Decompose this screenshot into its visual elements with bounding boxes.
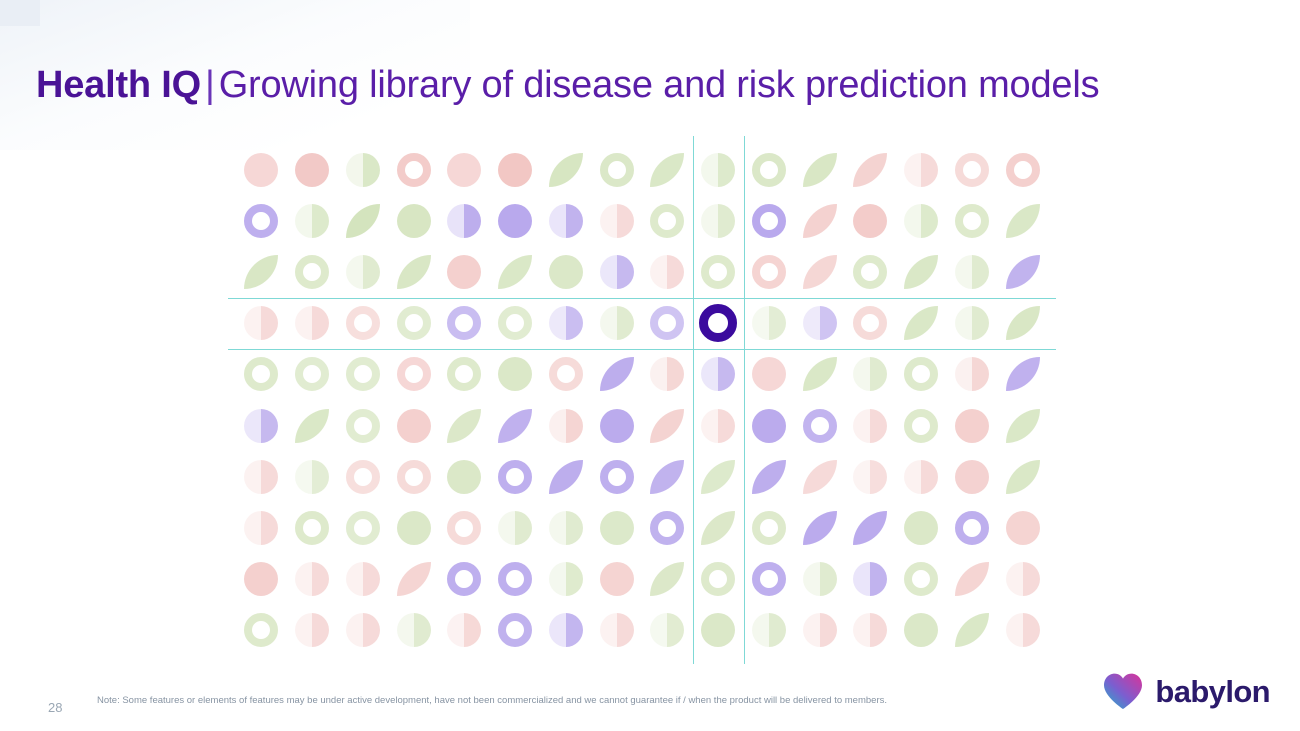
half-left — [803, 613, 820, 647]
matrix-glyph-ring — [397, 460, 431, 494]
matrix-cell — [591, 246, 642, 297]
matrix-glyph-leaf — [904, 255, 938, 289]
matrix-glyph-circle-wrap — [397, 511, 431, 545]
matrix-glyph-circle-wrap — [600, 409, 634, 443]
matrix-glyph-ring-wrap — [244, 204, 278, 238]
matrix-glyph-leaf — [853, 153, 887, 187]
matrix-glyph-half-circle — [244, 409, 278, 443]
matrix-cell — [388, 502, 439, 553]
matrix-cell — [338, 144, 389, 195]
half-right — [972, 357, 989, 391]
matrix-glyph-ring — [650, 204, 684, 238]
half-right — [312, 613, 329, 647]
matrix-glyph-highlighted-ring[interactable] — [699, 304, 737, 342]
matrix-cell — [338, 195, 389, 246]
matrix-glyph-circle-wrap — [600, 511, 634, 545]
half-left — [549, 562, 566, 596]
matrix-glyph-half-circle — [549, 306, 583, 340]
matrix-cell — [693, 144, 744, 195]
matrix-glyph-leaf — [549, 460, 583, 494]
matrix-glyph-circle — [600, 511, 634, 545]
matrix-glyph-circle — [955, 409, 989, 443]
matrix-cell — [642, 400, 693, 451]
matrix-cell — [591, 605, 642, 656]
matrix-glyph-half-wrap — [955, 255, 989, 289]
half-right — [566, 613, 583, 647]
half-left — [650, 255, 667, 289]
matrix-cell — [845, 246, 896, 297]
half-right — [870, 409, 887, 443]
matrix-glyph-circle-wrap — [397, 409, 431, 443]
matrix-glyph-leaf-wrap — [650, 562, 684, 596]
matrix-glyph-ring — [1006, 153, 1040, 187]
matrix-cell — [236, 246, 287, 297]
matrix-cell — [287, 246, 338, 297]
matrix-glyph-circle — [244, 153, 278, 187]
matrix-cell — [845, 298, 896, 349]
matrix-glyph-leaf-wrap — [650, 153, 684, 187]
matrix-cell — [693, 605, 744, 656]
matrix-cell — [947, 502, 998, 553]
matrix-glyph-half-circle — [803, 306, 837, 340]
half-right — [312, 562, 329, 596]
babylon-wordmark: babylon — [1155, 676, 1270, 707]
matrix-glyph-leaf — [1006, 255, 1040, 289]
half-left — [955, 357, 972, 391]
matrix-cell — [490, 144, 541, 195]
matrix-glyph-half-wrap — [904, 153, 938, 187]
matrix-glyph-leaf — [447, 409, 481, 443]
half-right — [820, 306, 837, 340]
matrix-cell — [845, 144, 896, 195]
half-left — [853, 562, 870, 596]
matrix-glyph-circle — [701, 613, 735, 647]
matrix-cell — [439, 400, 490, 451]
matrix-glyph-ring — [447, 357, 481, 391]
matrix-cell — [541, 502, 592, 553]
matrix-cell — [490, 605, 541, 656]
matrix-glyph-circle — [397, 204, 431, 238]
matrix-cell — [388, 246, 439, 297]
half-left — [1006, 613, 1023, 647]
page-number: 28 — [48, 700, 62, 715]
half-left — [397, 613, 414, 647]
matrix-glyph-half-wrap — [752, 613, 786, 647]
matrix-glyph-ring-wrap — [447, 357, 481, 391]
matrix-cell — [744, 144, 795, 195]
matrix-glyph-ring-wrap — [600, 153, 634, 187]
matrix-cell — [490, 349, 541, 400]
page-title-separator: | — [201, 64, 219, 106]
matrix-glyph-ring-wrap — [498, 613, 532, 647]
matrix-cell — [845, 400, 896, 451]
matrix-glyph-half-wrap — [549, 204, 583, 238]
matrix-glyph-half-circle — [803, 562, 837, 596]
matrix-glyph-half-circle — [346, 613, 380, 647]
matrix-glyph-leaf — [803, 204, 837, 238]
matrix-glyph-half-circle — [447, 613, 481, 647]
matrix-glyph-half-circle — [600, 613, 634, 647]
matrix-glyph-ring-wrap — [650, 511, 684, 545]
matrix-glyph-ring-wrap — [701, 255, 735, 289]
matrix-cell — [947, 144, 998, 195]
half-left — [853, 460, 870, 494]
matrix-glyph-ring — [346, 306, 380, 340]
half-right — [261, 409, 278, 443]
half-left — [549, 306, 566, 340]
half-right — [617, 255, 634, 289]
matrix-glyph-ring-wrap — [600, 460, 634, 494]
matrix-cell — [591, 144, 642, 195]
matrix-cell — [947, 605, 998, 656]
matrix-cell — [794, 349, 845, 400]
matrix-glyph-circle-wrap — [701, 613, 735, 647]
matrix-glyph-leaf — [1006, 306, 1040, 340]
half-right — [617, 306, 634, 340]
matrix-cell — [693, 400, 744, 451]
half-left — [752, 613, 769, 647]
matrix-glyph-ring — [752, 204, 786, 238]
matrix-cell — [490, 195, 541, 246]
matrix-glyph-ring-wrap — [346, 460, 380, 494]
matrix-glyph-circle-wrap — [752, 409, 786, 443]
half-right — [870, 562, 887, 596]
matrix-glyph-leaf-wrap — [650, 409, 684, 443]
matrix-cell — [947, 554, 998, 605]
matrix-cell — [997, 502, 1048, 553]
matrix-glyph-ring-wrap — [346, 409, 380, 443]
matrix-glyph-ring-wrap — [295, 357, 329, 391]
matrix-cell — [338, 605, 389, 656]
matrix-glyph-circle — [600, 562, 634, 596]
half-right — [261, 460, 278, 494]
matrix-glyph-circle-wrap — [397, 204, 431, 238]
matrix-glyph-half-circle — [650, 255, 684, 289]
matrix-glyph-ring-wrap — [295, 511, 329, 545]
matrix-glyph-circle — [904, 511, 938, 545]
matrix-cell — [439, 195, 490, 246]
matrix-glyph-half-wrap — [701, 357, 735, 391]
matrix-glyph-ring — [752, 255, 786, 289]
matrix-cell — [794, 400, 845, 451]
matrix-cell — [947, 195, 998, 246]
matrix-glyph-half-wrap — [701, 153, 735, 187]
matrix-cell — [591, 195, 642, 246]
matrix-cell — [997, 144, 1048, 195]
matrix-cell — [338, 298, 389, 349]
half-left — [803, 306, 820, 340]
matrix-glyph-ring-wrap — [498, 460, 532, 494]
half-left — [853, 613, 870, 647]
half-left — [853, 409, 870, 443]
matrix-glyph-ring-wrap — [498, 306, 532, 340]
matrix-glyph-ring — [853, 306, 887, 340]
matrix-glyph-leaf — [752, 460, 786, 494]
matrix-glyph-ring-wrap — [752, 204, 786, 238]
matrix-cell — [541, 144, 592, 195]
half-right — [363, 613, 380, 647]
half-left — [904, 460, 921, 494]
half-right — [312, 460, 329, 494]
matrix-glyph-half-wrap — [853, 357, 887, 391]
half-right — [1023, 562, 1040, 596]
half-left — [244, 460, 261, 494]
matrix-glyph-ring — [498, 460, 532, 494]
half-right — [261, 306, 278, 340]
half-left — [955, 255, 972, 289]
matrix-cell — [744, 298, 795, 349]
matrix-glyph-ring — [498, 306, 532, 340]
half-right — [363, 562, 380, 596]
half-right — [769, 613, 786, 647]
matrix-glyph-half-wrap — [904, 204, 938, 238]
matrix-glyph-half-circle — [853, 613, 887, 647]
half-right — [820, 613, 837, 647]
matrix-glyph-half-circle — [600, 255, 634, 289]
matrix-glyph-half-wrap — [346, 255, 380, 289]
matrix-glyph-half-wrap — [295, 613, 329, 647]
matrix-glyph-leaf — [955, 613, 989, 647]
matrix-glyph-ring — [600, 153, 634, 187]
half-right — [972, 255, 989, 289]
matrix-glyph-ring — [853, 255, 887, 289]
matrix-glyph-half-wrap — [1006, 613, 1040, 647]
matrix-glyph-half-wrap — [803, 613, 837, 647]
matrix-cell — [794, 605, 845, 656]
matrix-glyph-half-circle — [346, 562, 380, 596]
matrix-cell — [896, 195, 947, 246]
matrix-cell — [439, 298, 490, 349]
matrix-glyph-circle-wrap — [904, 613, 938, 647]
matrix-glyph-circle — [549, 255, 583, 289]
matrix-glyph-half-circle — [955, 357, 989, 391]
matrix-cell — [744, 451, 795, 502]
matrix-glyph-ring-wrap — [397, 153, 431, 187]
matrix-glyph-ring — [955, 204, 989, 238]
matrix-glyph-ring — [752, 511, 786, 545]
matrix-glyph-leaf — [498, 409, 532, 443]
matrix-glyph-circle-wrap — [955, 460, 989, 494]
matrix-glyph-ring — [904, 409, 938, 443]
matrix-cell — [744, 195, 795, 246]
matrix-cell — [287, 400, 338, 451]
matrix-glyph-ring-wrap — [904, 562, 938, 596]
matrix-glyph-circle-wrap — [447, 460, 481, 494]
half-left — [752, 306, 769, 340]
matrix-glyph-half-circle — [904, 460, 938, 494]
matrix-glyph-half-circle — [549, 562, 583, 596]
matrix-glyph-circle-wrap — [498, 153, 532, 187]
matrix-cell — [896, 246, 947, 297]
matrix-glyph-half-wrap — [397, 613, 431, 647]
matrix-glyph-leaf — [650, 409, 684, 443]
matrix-glyph-ring — [904, 562, 938, 596]
half-right — [870, 460, 887, 494]
matrix-glyph-half-circle — [346, 153, 380, 187]
matrix-glyph-leaf-wrap — [752, 460, 786, 494]
matrix-glyph-circle — [397, 511, 431, 545]
matrix-glyph-half-wrap — [904, 460, 938, 494]
matrix-glyph-half-circle — [549, 409, 583, 443]
matrix-glyph-leaf — [1006, 460, 1040, 494]
half-right — [718, 153, 735, 187]
matrix-glyph-leaf-wrap — [955, 613, 989, 647]
matrix-glyph-half-circle — [752, 613, 786, 647]
matrix-glyph-ring-wrap — [447, 306, 481, 340]
matrix-cell — [896, 144, 947, 195]
matrix-cell — [439, 144, 490, 195]
matrix-glyph-ring-wrap — [904, 357, 938, 391]
matrix-glyph-half-wrap — [853, 409, 887, 443]
matrix-cell — [947, 246, 998, 297]
matrix-cell — [490, 246, 541, 297]
matrix-glyph-half-wrap — [701, 409, 735, 443]
matrix-glyph-ring-wrap — [752, 255, 786, 289]
matrix-cell — [693, 451, 744, 502]
matrix-glyph-half-wrap — [803, 562, 837, 596]
matrix-glyph-half-wrap — [447, 204, 481, 238]
matrix-glyph-half-circle — [955, 306, 989, 340]
half-left — [549, 511, 566, 545]
matrix-glyph-half-circle — [295, 562, 329, 596]
matrix-glyph-circle — [752, 357, 786, 391]
matrix-glyph-leaf — [803, 357, 837, 391]
matrix-cell — [642, 298, 693, 349]
half-right — [667, 613, 684, 647]
matrix-cell — [388, 349, 439, 400]
matrix-glyph-circle-wrap — [955, 409, 989, 443]
half-right — [464, 613, 481, 647]
matrix-glyph-half-wrap — [600, 255, 634, 289]
matrix-cell — [338, 349, 389, 400]
matrix-glyph-half-circle — [346, 255, 380, 289]
matrix-glyph-half-wrap — [549, 409, 583, 443]
half-right — [515, 511, 532, 545]
matrix-glyph-leaf — [244, 255, 278, 289]
matrix-glyph-circle — [498, 204, 532, 238]
matrix-glyph-half-circle — [752, 306, 786, 340]
matrix-glyph-leaf-wrap — [549, 153, 583, 187]
matrix-glyph-circle-wrap — [853, 204, 887, 238]
matrix-glyph-half-circle — [650, 613, 684, 647]
shape-matrix-grid — [236, 144, 1048, 656]
matrix-glyph-half-wrap — [1006, 562, 1040, 596]
matrix-glyph-half-wrap — [549, 511, 583, 545]
matrix-glyph-circle — [955, 460, 989, 494]
matrix-cell — [794, 246, 845, 297]
matrix-cell — [338, 451, 389, 502]
matrix-glyph-ring — [346, 511, 380, 545]
half-left — [295, 613, 312, 647]
matrix-glyph-half-wrap — [853, 562, 887, 596]
matrix-glyph-circle — [498, 153, 532, 187]
matrix-glyph-half-wrap — [600, 306, 634, 340]
matrix-glyph-circle — [498, 357, 532, 391]
matrix-glyph-half-circle — [295, 613, 329, 647]
matrix-cell — [236, 400, 287, 451]
matrix-glyph-circle-wrap — [1006, 511, 1040, 545]
matrix-glyph-half-circle — [1006, 613, 1040, 647]
matrix-glyph-leaf-wrap — [1006, 409, 1040, 443]
matrix-glyph-leaf — [650, 460, 684, 494]
half-left — [295, 562, 312, 596]
matrix-glyph-leaf — [803, 460, 837, 494]
matrix-glyph-ring-wrap — [549, 357, 583, 391]
half-left — [447, 204, 464, 238]
matrix-glyph-leaf-wrap — [803, 511, 837, 545]
matrix-glyph-half-wrap — [752, 306, 786, 340]
matrix-glyph-circle-wrap — [295, 153, 329, 187]
matrix-glyph-leaf-wrap — [803, 255, 837, 289]
matrix-glyph-ring-wrap — [397, 306, 431, 340]
matrix-cell — [896, 349, 947, 400]
half-left — [346, 153, 363, 187]
matrix-glyph-ring-wrap — [346, 511, 380, 545]
half-left — [549, 204, 566, 238]
matrix-glyph-leaf — [498, 255, 532, 289]
matrix-cell — [236, 144, 287, 195]
matrix-glyph-leaf — [650, 153, 684, 187]
matrix-cell-highlighted[interactable] — [693, 298, 744, 349]
half-right — [820, 562, 837, 596]
shape-matrix — [236, 144, 1048, 656]
matrix-glyph-ring — [346, 357, 380, 391]
half-left — [600, 255, 617, 289]
matrix-glyph-half-circle — [600, 204, 634, 238]
half-right — [566, 511, 583, 545]
matrix-glyph-ring — [701, 562, 735, 596]
half-right — [566, 562, 583, 596]
matrix-glyph-ring-wrap — [904, 409, 938, 443]
matrix-glyph-ring-wrap — [752, 153, 786, 187]
matrix-glyph-leaf-wrap — [904, 255, 938, 289]
matrix-glyph-circle — [600, 409, 634, 443]
matrix-glyph-leaf-wrap — [701, 511, 735, 545]
matrix-glyph-circle-wrap — [752, 357, 786, 391]
matrix-glyph-leaf-wrap — [397, 562, 431, 596]
half-left — [244, 409, 261, 443]
matrix-glyph-half-circle — [701, 409, 735, 443]
matrix-cell — [845, 349, 896, 400]
matrix-cell — [338, 246, 389, 297]
matrix-glyph-half-wrap — [346, 153, 380, 187]
matrix-glyph-circle — [447, 153, 481, 187]
matrix-cell — [896, 605, 947, 656]
half-right — [769, 306, 786, 340]
matrix-glyph-ring — [955, 153, 989, 187]
half-left — [244, 511, 261, 545]
matrix-cell — [236, 502, 287, 553]
matrix-glyph-ring — [346, 409, 380, 443]
matrix-glyph-circle-wrap — [904, 511, 938, 545]
matrix-glyph-leaf-wrap — [955, 562, 989, 596]
half-left — [701, 153, 718, 187]
matrix-glyph-leaf — [955, 562, 989, 596]
matrix-cell — [997, 195, 1048, 246]
matrix-cell — [490, 451, 541, 502]
matrix-glyph-half-circle — [955, 255, 989, 289]
half-right — [261, 511, 278, 545]
half-right — [921, 153, 938, 187]
matrix-cell — [287, 554, 338, 605]
page-title-rest: Growing library of disease and risk pred… — [219, 64, 1100, 106]
half-left — [1006, 562, 1023, 596]
matrix-glyph-circle — [447, 255, 481, 289]
matrix-glyph-ring — [447, 562, 481, 596]
matrix-glyph-leaf-wrap — [650, 460, 684, 494]
matrix-glyph-ring — [955, 511, 989, 545]
matrix-cell — [642, 451, 693, 502]
